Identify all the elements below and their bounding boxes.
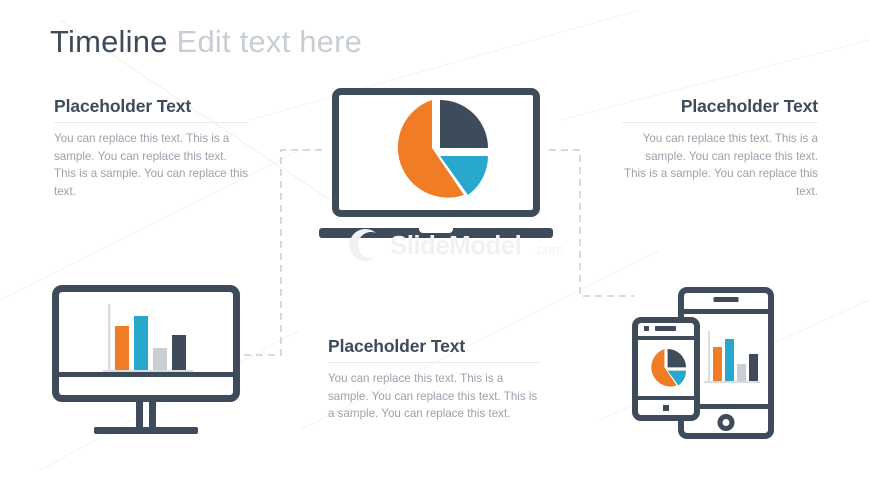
phone-camera-icon — [644, 326, 649, 331]
bar-4-navy — [172, 335, 186, 370]
watermark-suffix: .com — [533, 241, 563, 257]
text-block-bottom-body: You can replace this text. This is a sam… — [328, 370, 542, 423]
text-block-right-divider — [622, 122, 818, 123]
laptop-pie-chart — [339, 95, 533, 210]
pie-slice-navy — [668, 349, 686, 367]
text-block-right-body: You can replace this text. This is a sam… — [622, 130, 818, 200]
phone-illustration — [632, 317, 700, 421]
phone-speaker-icon — [655, 326, 676, 331]
tablet-home-button[interactable] — [718, 414, 735, 431]
text-block-bottom-divider — [328, 362, 542, 363]
text-block-left-divider — [54, 122, 249, 123]
chart-y-axis — [108, 304, 111, 372]
connector-laptop-to-monitor — [243, 150, 322, 355]
phone-bottom-bezel-bar — [638, 396, 694, 400]
page-title-subtitle: Edit text here — [177, 24, 362, 59]
text-block-left-body: You can replace this text. This is a sam… — [54, 130, 249, 200]
text-block-right-heading: Placeholder Text — [622, 96, 818, 117]
bar-4-navy — [749, 354, 758, 381]
laptop-screen — [332, 88, 540, 217]
chart-y-axis — [708, 331, 710, 383]
monitor-stand-base — [94, 427, 198, 434]
bar-3-gray — [737, 364, 746, 381]
bar-1-orange — [713, 347, 722, 381]
laptop-base-notch — [419, 228, 453, 233]
chart-x-axis — [704, 381, 760, 383]
slide-canvas: TimelineEdit text here Placeholder Text … — [0, 0, 870, 489]
bar-3-gray — [153, 348, 167, 370]
tablet-top-bezel-bar — [684, 309, 768, 314]
text-block-right[interactable]: Placeholder Text You can replace this te… — [622, 96, 818, 200]
tablet-speaker-icon — [714, 297, 739, 302]
phone-home-button[interactable] — [663, 405, 669, 411]
text-block-bottom[interactable]: Placeholder Text You can replace this te… — [328, 336, 542, 423]
monitor-bezel-divider — [59, 372, 233, 377]
bar-1-orange — [115, 326, 129, 370]
monitor-bar-chart — [59, 292, 233, 395]
text-block-left-heading: Placeholder Text — [54, 96, 249, 117]
bar-2-teal — [134, 316, 148, 370]
phone-top-bezel-bar — [638, 336, 694, 340]
pie-slice-navy — [440, 100, 488, 148]
text-block-bottom-heading: Placeholder Text — [328, 336, 542, 357]
laptop-illustration — [332, 88, 540, 243]
phone-pie-chart — [642, 345, 690, 393]
text-block-left[interactable]: Placeholder Text You can replace this te… — [54, 96, 249, 200]
bar-2-teal — [725, 339, 734, 381]
monitor-screen — [52, 285, 240, 402]
page-title-main: Timeline — [50, 24, 168, 59]
page-title: TimelineEdit text here — [50, 24, 362, 60]
monitor-illustration — [52, 285, 240, 435]
